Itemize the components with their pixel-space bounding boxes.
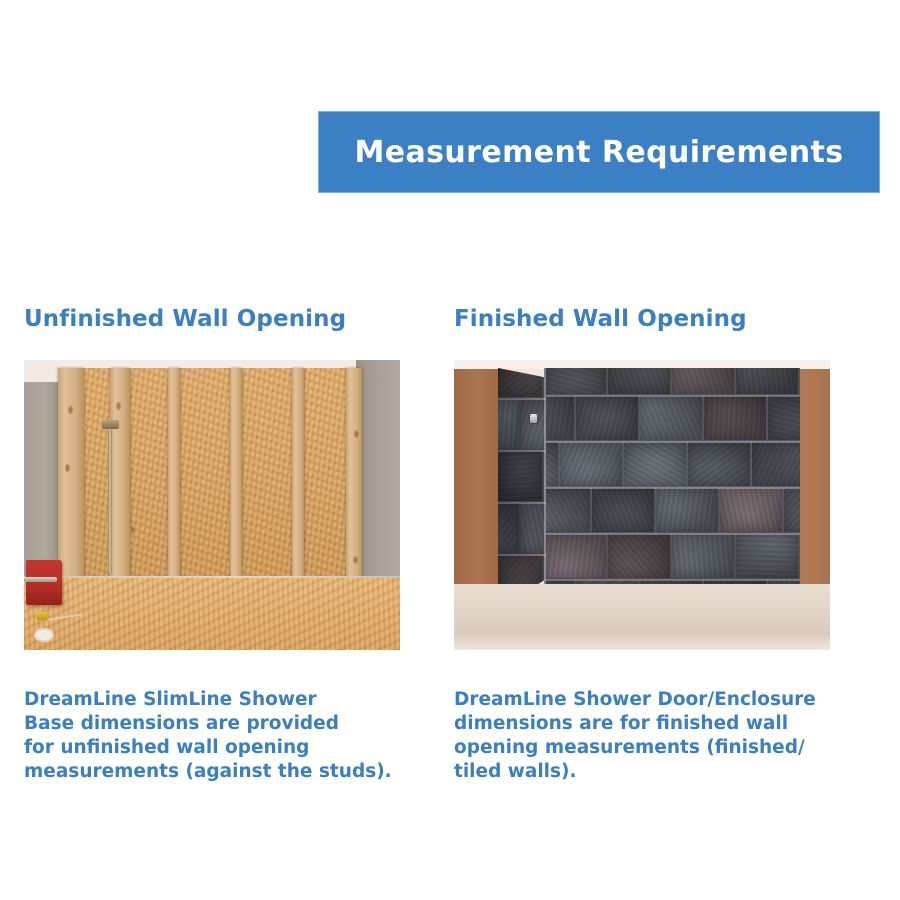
photo-unfinished-wall-opening xyxy=(24,360,400,650)
caption-line: for unfinished wall opening xyxy=(24,736,384,760)
wall-stud xyxy=(168,368,180,580)
osb-sheathing-panel xyxy=(58,368,360,580)
caption-line: measurements (against the studs). xyxy=(24,760,384,784)
caption-line: DreamLine Shower Door/Enclosure xyxy=(454,688,834,712)
caption-line: tiled walls). xyxy=(454,760,834,784)
photo-unfinished-content xyxy=(24,360,400,650)
wood-knot xyxy=(354,430,359,438)
chrome-fixture-icon xyxy=(530,414,537,423)
sealant-tube xyxy=(34,628,54,642)
caption-line: DreamLine SlimLine Shower xyxy=(24,688,384,712)
bathroom-floor xyxy=(454,584,830,650)
page-title: Measurement Requirements xyxy=(354,135,843,170)
wood-knot xyxy=(353,556,358,564)
caption-finished: DreamLine Shower Door/Enclosure dimensio… xyxy=(454,688,834,784)
column-heading-finished: Finished Wall Opening xyxy=(454,306,747,332)
wall-stud xyxy=(292,368,304,580)
wall-stud xyxy=(58,368,84,580)
banner: Measurement Requirements xyxy=(318,111,880,193)
wall-stud xyxy=(230,368,242,580)
back-wall-shading xyxy=(544,368,800,590)
ceiling-gap-left xyxy=(24,360,58,382)
wood-knot xyxy=(130,526,135,534)
side-wall-shading xyxy=(498,368,546,608)
caption-line: dimensions are for finished wall xyxy=(454,712,834,736)
toolbox-handle xyxy=(24,577,57,582)
measurement-requirements-page: Measurement Requirements Unfinished Wall… xyxy=(0,0,900,900)
copper-supply-pipe xyxy=(108,418,112,573)
wood-knot xyxy=(65,464,70,472)
tape-measure xyxy=(36,612,48,620)
pipe-fitting xyxy=(102,420,119,429)
photo-finished-content xyxy=(454,360,830,650)
red-toolbox xyxy=(26,560,62,605)
drywall-return-left xyxy=(24,360,58,578)
wall-stud xyxy=(346,368,362,580)
wood-knot xyxy=(116,402,121,410)
caption-line: Base dimensions are provided xyxy=(24,712,384,736)
caption-line: opening measurements (finished/ xyxy=(454,736,834,760)
wood-knot xyxy=(68,406,73,414)
tiled-back-wall xyxy=(544,368,800,590)
photo-finished-wall-opening xyxy=(454,360,830,650)
wall-stud xyxy=(110,368,130,580)
wall-corner-seam xyxy=(544,368,546,600)
column-heading-unfinished: Unfinished Wall Opening xyxy=(24,306,346,332)
tiled-side-wall xyxy=(498,368,546,608)
caption-unfinished: DreamLine SlimLine Shower Base dimension… xyxy=(24,688,384,784)
